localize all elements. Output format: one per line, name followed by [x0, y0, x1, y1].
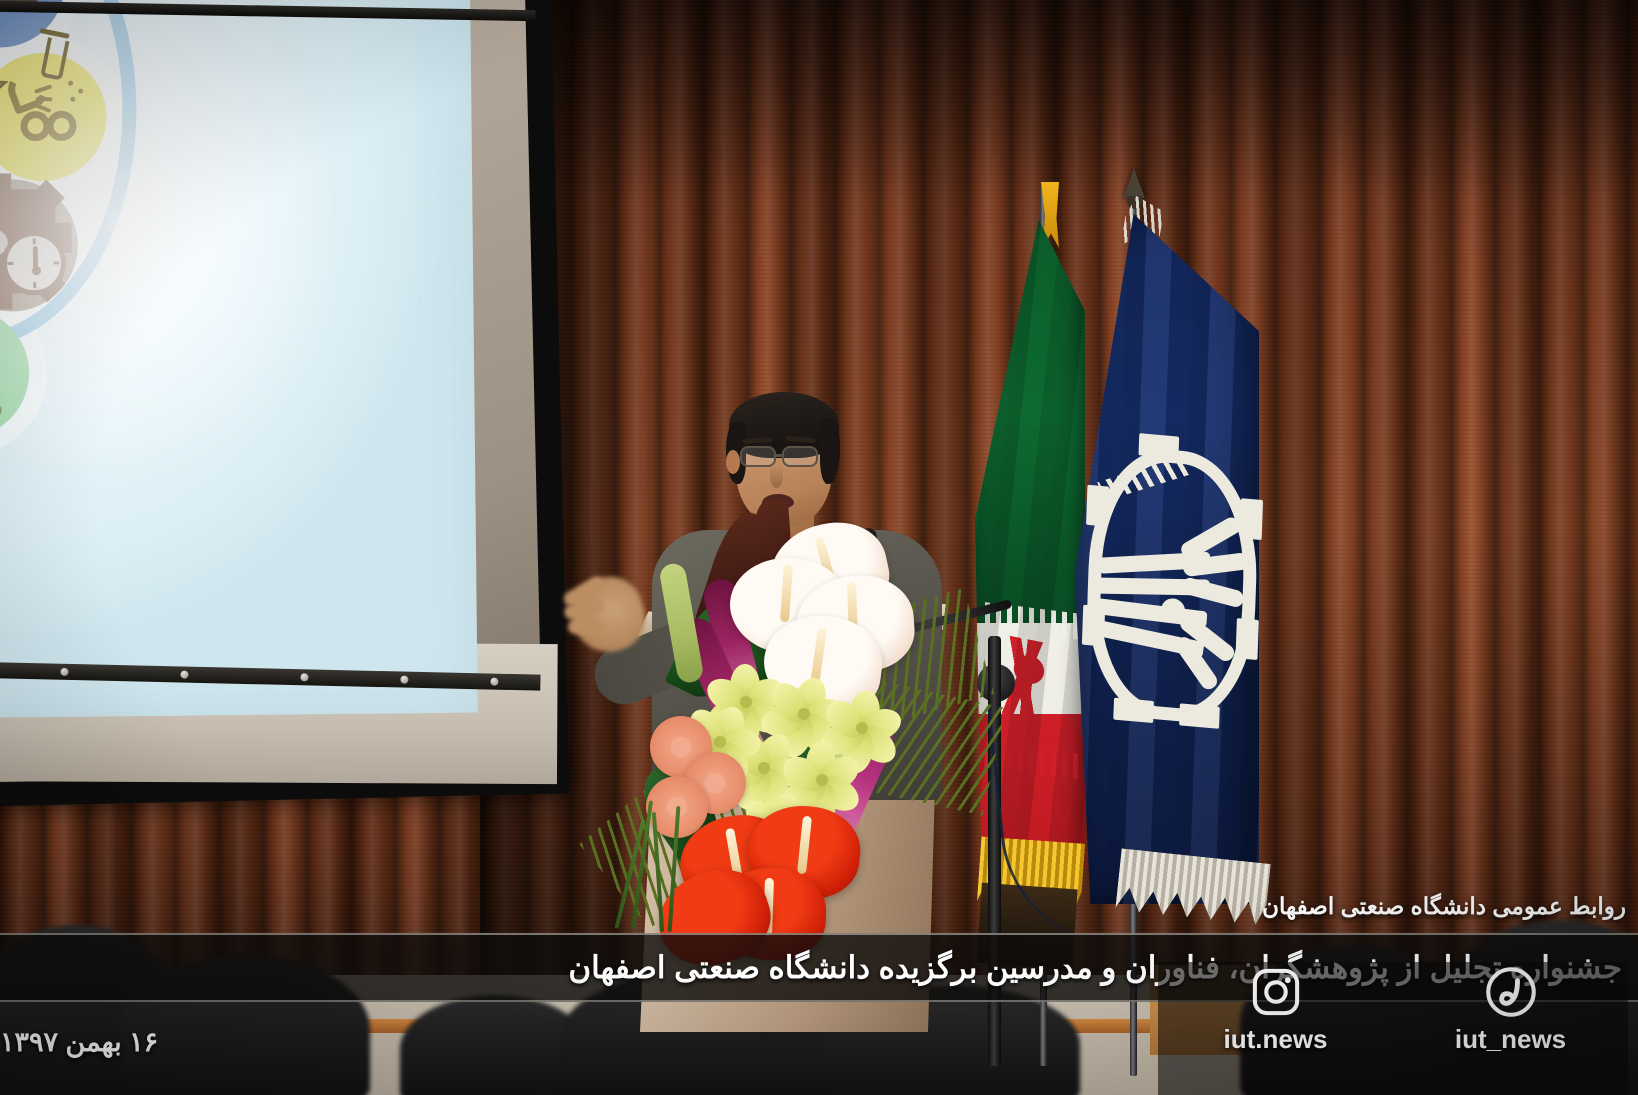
- soroush-icon: [1485, 966, 1537, 1018]
- speaker-hair-side: [820, 418, 840, 484]
- flower-bouquet: [622, 500, 942, 930]
- screen-mat: [0, 0, 543, 783]
- photograph: روابط عمومی دانشگاه صنعتی اصفهان جشنواره…: [0, 0, 1638, 1095]
- projection-screen: [0, 0, 569, 807]
- eyeglasses-bridge: [776, 454, 784, 457]
- caption-date-bar: ۱۶ بهمن ۱۳۹۷: [0, 1008, 210, 1076]
- social-handles-panel: iut_news iut.news: [1158, 962, 1628, 1095]
- spear-finial-icon: [1123, 168, 1145, 198]
- instagram-icon: [1250, 966, 1302, 1018]
- speaker-nose: [770, 464, 783, 488]
- instagram-handle: iut.news: [1224, 1024, 1328, 1055]
- social-item-soroush[interactable]: iut_news: [1421, 966, 1601, 1055]
- soroush-handle: iut_news: [1455, 1024, 1566, 1055]
- caption-date: ۱۶ بهمن ۱۳۹۷: [0, 1027, 158, 1058]
- social-item-instagram[interactable]: iut.news: [1186, 966, 1366, 1055]
- screen-surface: [0, 0, 478, 718]
- public-relations-credit: روابط عمومی دانشگاه صنعتی اصفهان: [1262, 893, 1626, 920]
- speaker-ear: [726, 450, 740, 474]
- eyeglasses-lens-right: [782, 446, 818, 467]
